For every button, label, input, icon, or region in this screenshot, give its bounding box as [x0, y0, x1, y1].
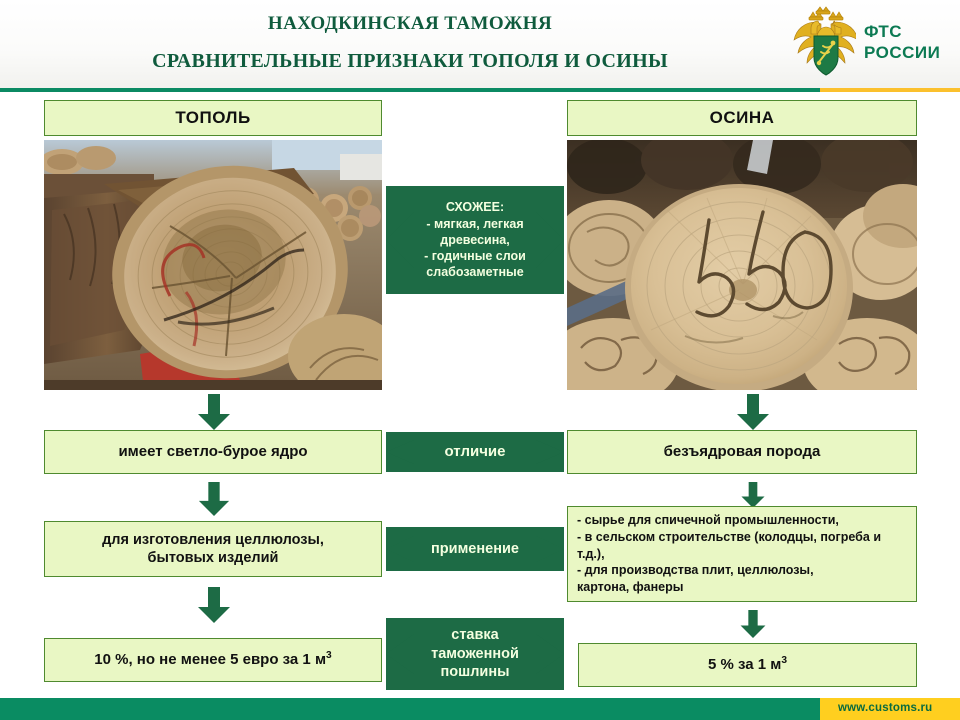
- column-heading-aspen: ОСИНА: [567, 100, 917, 136]
- aspen-row-2-line-3: картона, фанеры: [577, 579, 907, 596]
- callout-similar-text: СХОЖЕЕ: - мягкая, легкая древесина, - го…: [410, 199, 540, 280]
- poplar-row-2-line-0: для изготовления целлюлозы,: [102, 531, 324, 549]
- poplar-row-3: 10 %, но не менее 5 евро за 1 м3: [44, 638, 382, 682]
- fts-logo-text: ФТС РОССИИ: [864, 22, 940, 63]
- aspen-row-2-line-1: - в сельском строительстве (колодцы, пог…: [577, 529, 907, 563]
- down-arrow-left-3: [196, 585, 232, 625]
- coat-of-arms-eagle-icon: [790, 6, 856, 78]
- photo-poplar-log: [44, 140, 382, 390]
- aspen-row-2-line-2: - для производства плит, целлюлозы,: [577, 562, 907, 579]
- callout-duty-line-1: таможенной: [431, 645, 519, 664]
- callout-duty-text: ставка таможенной пошлины: [431, 626, 519, 683]
- callout-difference: отличие: [386, 432, 564, 472]
- poplar-row-1: имеет светло-бурое ядро: [44, 430, 382, 474]
- down-arrow-left-1: [196, 394, 232, 430]
- header-titles: НАХОДКИНСКАЯ ТАМОЖНЯ СРАВНИТЕЛЬНЫЕ ПРИЗН…: [60, 6, 760, 74]
- aspen-duty-text: 5 % за 1 м3: [708, 655, 787, 675]
- aspen-row-2-line-0: - сырье для спичечной промышленности,: [577, 512, 907, 529]
- callout-similar: СХОЖЕЕ: - мягкая, легкая древесина, - го…: [386, 186, 564, 294]
- footer-url[interactable]: www.customs.ru: [838, 702, 932, 714]
- aspen-row-3: 5 % за 1 м3: [578, 643, 917, 687]
- callout-duty-line-0: ставка: [431, 626, 519, 645]
- callout-similar-line-0: СХОЖЕЕ:: [424, 199, 526, 215]
- aspen-row-2: - сырье для спичечной промышленности, - …: [567, 506, 917, 602]
- down-arrow-right-2: [735, 482, 771, 508]
- callout-similar-line-1: - мягкая, легкая: [424, 216, 526, 232]
- header-divider: [0, 88, 960, 92]
- down-arrow-left-2: [196, 482, 232, 516]
- photo-aspen-log: [567, 140, 917, 390]
- aspen-duty-sup: 3: [781, 655, 787, 666]
- fts-logo-line1: ФТС: [864, 22, 940, 43]
- column-heading-poplar: ТОПОЛЬ: [44, 100, 382, 136]
- poplar-duty-sup: 3: [326, 650, 332, 661]
- callout-similar-line-4: слабозаметные: [424, 264, 526, 280]
- header-divider-gold: [820, 88, 960, 92]
- down-arrow-right-3: [735, 610, 771, 638]
- footer-bar-green: [0, 698, 820, 720]
- page-title: НАХОДКИНСКАЯ ТАМОЖНЯ: [60, 12, 760, 36]
- poplar-duty-text: 10 %, но не менее 5 евро за 1 м3: [94, 650, 331, 670]
- aspen-log-cross-section-image: [567, 140, 917, 390]
- aspen-row-1: безъядровая порода: [567, 430, 917, 474]
- header-divider-green: [0, 88, 820, 92]
- callout-similar-line-2: древесина,: [424, 232, 526, 248]
- callout-similar-line-3: - годичные слои: [424, 248, 526, 264]
- slide-root: НАХОДКИНСКАЯ ТАМОЖНЯ СРАВНИТЕЛЬНЫЕ ПРИЗН…: [0, 0, 960, 720]
- callout-usage: применение: [386, 527, 564, 571]
- fts-logo-line2: РОССИИ: [864, 43, 940, 64]
- fts-logo: ФТС РОССИИ: [790, 6, 950, 80]
- poplar-row-2: для изготовления целлюлозы, бытовых изде…: [44, 521, 382, 577]
- slide-footer: www.customs.ru: [0, 698, 960, 720]
- callout-difference-text: отличие: [445, 442, 506, 462]
- slide-header: НАХОДКИНСКАЯ ТАМОЖНЯ СРАВНИТЕЛЬНЫЕ ПРИЗН…: [0, 0, 960, 90]
- callout-duty-line-2: пошлины: [431, 663, 519, 682]
- poplar-log-cross-section-image: [44, 140, 382, 390]
- page-subtitle: СРАВНИТЕЛЬНЫЕ ПРИЗНАКИ ТОПОЛЯ И ОСИНЫ: [60, 49, 760, 74]
- poplar-row-2-line-1: бытовых изделий: [102, 549, 324, 567]
- callout-usage-text: применение: [431, 540, 519, 559]
- down-arrow-right-1: [735, 394, 771, 430]
- callout-duty: ставка таможенной пошлины: [386, 618, 564, 690]
